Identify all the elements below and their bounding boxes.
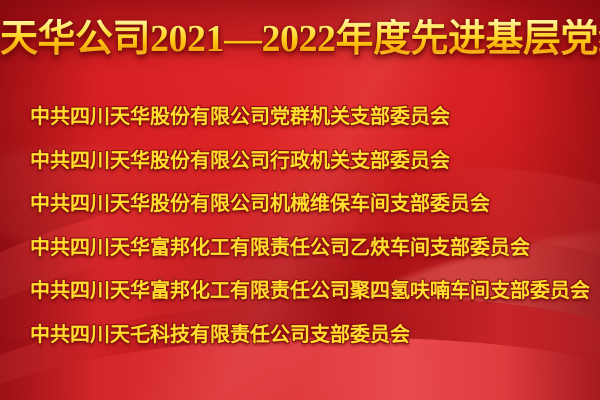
list-item: 中共四川天华富邦化工有限责任公司乙炔车间支部委员会 bbox=[0, 227, 600, 271]
list-item: 中共四川天华股份有限公司行政机关支部委员会 bbox=[0, 140, 600, 184]
list-item: 中共四川天华富邦化工有限责任公司聚四氢呋喃车间支部委员会 bbox=[0, 270, 600, 314]
list-item: 中共四川天乇科技有限责任公司支部委员会 bbox=[0, 314, 600, 358]
organization-list: 中共四川天华股份有限公司党群机关支部委员会 中共四川天华股份有限公司行政机关支部… bbox=[0, 96, 600, 357]
poster-content: 天华公司2021—2022年度先进基层党组织 中共四川天华股份有限公司党群机关支… bbox=[0, 0, 600, 400]
list-item: 中共四川天华股份有限公司机械维保车间支部委员会 bbox=[0, 183, 600, 227]
award-poster: 天华公司2021—2022年度先进基层党组织 中共四川天华股份有限公司党群机关支… bbox=[0, 0, 600, 400]
list-item: 中共四川天华股份有限公司党群机关支部委员会 bbox=[0, 96, 600, 140]
poster-title: 天华公司2021—2022年度先进基层党组织 bbox=[0, 19, 600, 61]
